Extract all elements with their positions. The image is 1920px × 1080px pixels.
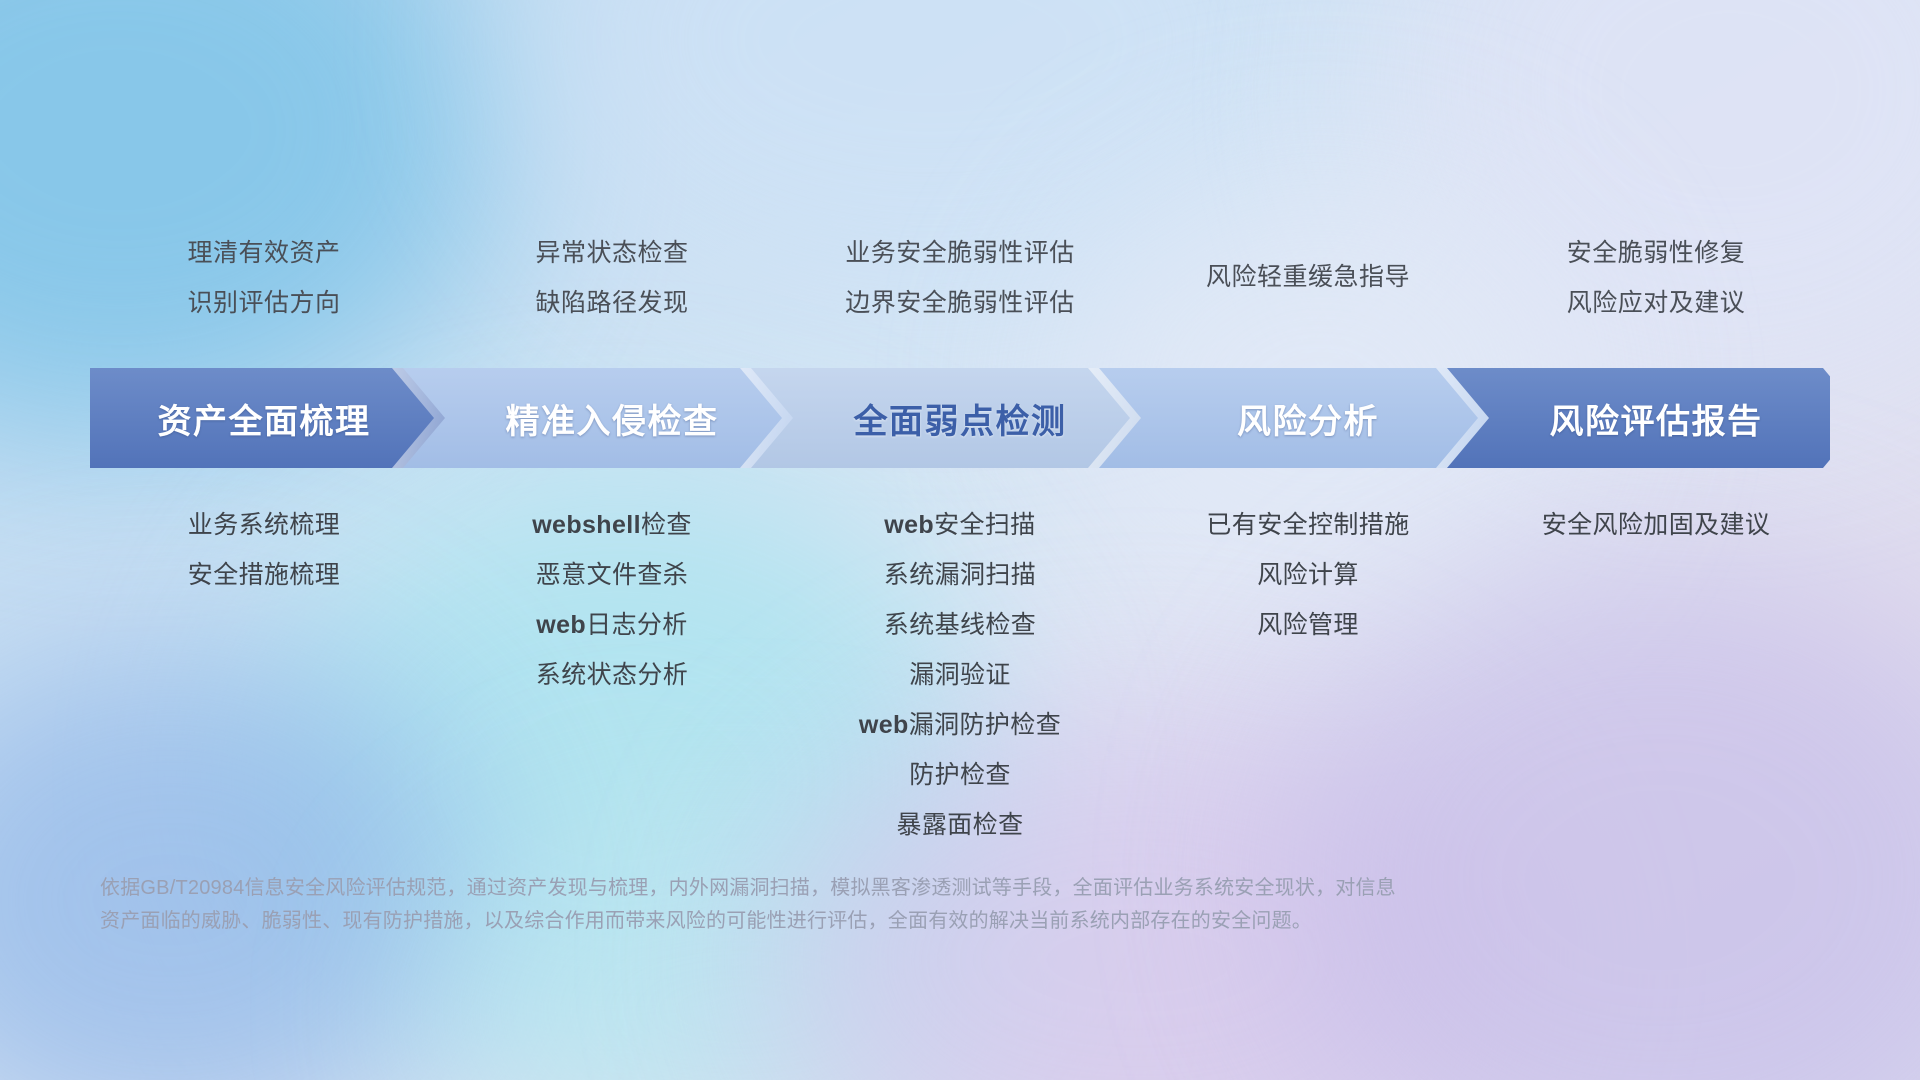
bottom-column-weakness-detection: web安全扫描系统漏洞扫描系统基线检查漏洞验证web漏洞防护检查防护检查暴露面检… bbox=[786, 500, 1134, 850]
list-item: 风险计算 bbox=[1257, 550, 1359, 600]
list-item: 风险管理 bbox=[1257, 600, 1359, 650]
footer-description: 依据GB/T20984信息安全风险评估规范，通过资产发现与梳理，内外网漏洞扫描，… bbox=[100, 872, 1780, 938]
list-item-prefix: web bbox=[884, 511, 934, 539]
bottom-column-risk-report: 安全风险加固及建议 bbox=[1482, 500, 1830, 850]
list-item: 恶意文件查杀 bbox=[536, 550, 688, 600]
stage-label-risk-analysis[interactable]: 风险分析 bbox=[1134, 368, 1482, 468]
list-item-text: 日志分析 bbox=[586, 611, 688, 639]
top-column-risk-analysis: 风险轻重缓急指导 bbox=[1134, 228, 1482, 328]
top-column-weakness-detection: 业务安全脆弱性评估边界安全脆弱性评估 bbox=[786, 228, 1134, 328]
background-blob-8 bbox=[430, 830, 1050, 1080]
footer-line-1: 依据GB/T20984信息安全风险评估规范，通过资产发现与梳理，内外网漏洞扫描，… bbox=[100, 872, 1780, 905]
list-item: 安全措施梳理 bbox=[188, 550, 340, 600]
top-caption: 缺陷路径发现 bbox=[535, 278, 688, 328]
list-item: 系统基线检查 bbox=[884, 600, 1036, 650]
list-item: 漏洞验证 bbox=[909, 650, 1011, 700]
top-caption: 识别评估方向 bbox=[187, 278, 340, 328]
top-caption: 边界安全脆弱性评估 bbox=[845, 278, 1075, 328]
list-item-text: 安全扫描 bbox=[934, 511, 1036, 539]
process-arrow-banner: 资产全面梳理精准入侵检查全面弱点检测风险分析风险评估报告 bbox=[90, 368, 1830, 468]
top-column-asset-inventory: 理清有效资产识别评估方向 bbox=[90, 228, 438, 328]
bottom-column-asset-inventory: 业务系统梳理安全措施梳理 bbox=[90, 500, 438, 850]
list-item-text: 漏洞防护检查 bbox=[909, 711, 1061, 739]
bottom-column-risk-analysis: 已有安全控制措施风险计算风险管理 bbox=[1134, 500, 1482, 850]
list-item-prefix: web bbox=[536, 611, 586, 639]
footer-line-2: 资产面临的威胁、脆弱性、现有防护措施，以及综合作用而带来风险的可能性进行评估，全… bbox=[100, 905, 1780, 938]
top-caption: 异常状态检查 bbox=[535, 228, 688, 278]
list-item-prefix: web bbox=[859, 711, 909, 739]
top-captions-row: 理清有效资产识别评估方向异常状态检查缺陷路径发现业务安全脆弱性评估边界安全脆弱性… bbox=[90, 228, 1830, 328]
top-caption: 安全脆弱性修复 bbox=[1567, 228, 1746, 278]
list-item-prefix: webshell bbox=[532, 511, 641, 539]
list-item: 暴露面检查 bbox=[896, 800, 1023, 850]
list-item: 已有安全控制措施 bbox=[1206, 500, 1409, 550]
top-caption: 理清有效资产 bbox=[187, 228, 340, 278]
stage-label-weakness-detection[interactable]: 全面弱点检测 bbox=[786, 368, 1134, 468]
top-caption: 风险应对及建议 bbox=[1567, 278, 1746, 328]
list-item: 系统状态分析 bbox=[536, 650, 688, 700]
list-item: web日志分析 bbox=[536, 600, 687, 650]
list-item: web漏洞防护检查 bbox=[859, 700, 1061, 750]
top-caption: 业务安全脆弱性评估 bbox=[845, 228, 1075, 278]
stage-label-intrusion-check[interactable]: 精准入侵检查 bbox=[438, 368, 786, 468]
list-item: 业务系统梳理 bbox=[188, 500, 340, 550]
top-column-intrusion-check: 异常状态检查缺陷路径发现 bbox=[438, 228, 786, 328]
top-column-risk-report: 安全脆弱性修复风险应对及建议 bbox=[1482, 228, 1830, 328]
stage-label-risk-report[interactable]: 风险评估报告 bbox=[1482, 368, 1830, 468]
list-item: 安全风险加固及建议 bbox=[1542, 500, 1771, 550]
slide-canvas: 理清有效资产识别评估方向异常状态检查缺陷路径发现业务安全脆弱性评估边界安全脆弱性… bbox=[0, 0, 1920, 1080]
list-item: 系统漏洞扫描 bbox=[884, 550, 1036, 600]
bottom-column-intrusion-check: webshell检查恶意文件查杀web日志分析系统状态分析 bbox=[438, 500, 786, 850]
list-item-text: 检查 bbox=[641, 511, 692, 539]
top-caption: 风险轻重缓急指导 bbox=[1206, 252, 1410, 302]
bottom-items-row: 业务系统梳理安全措施梳理webshell检查恶意文件查杀web日志分析系统状态分… bbox=[90, 500, 1830, 850]
stage-label-asset-inventory[interactable]: 资产全面梳理 bbox=[90, 368, 438, 468]
list-item: webshell检查 bbox=[532, 500, 692, 550]
list-item: 防护检查 bbox=[909, 750, 1011, 800]
list-item: web安全扫描 bbox=[884, 500, 1035, 550]
background-blob-6 bbox=[1380, 0, 1920, 400]
